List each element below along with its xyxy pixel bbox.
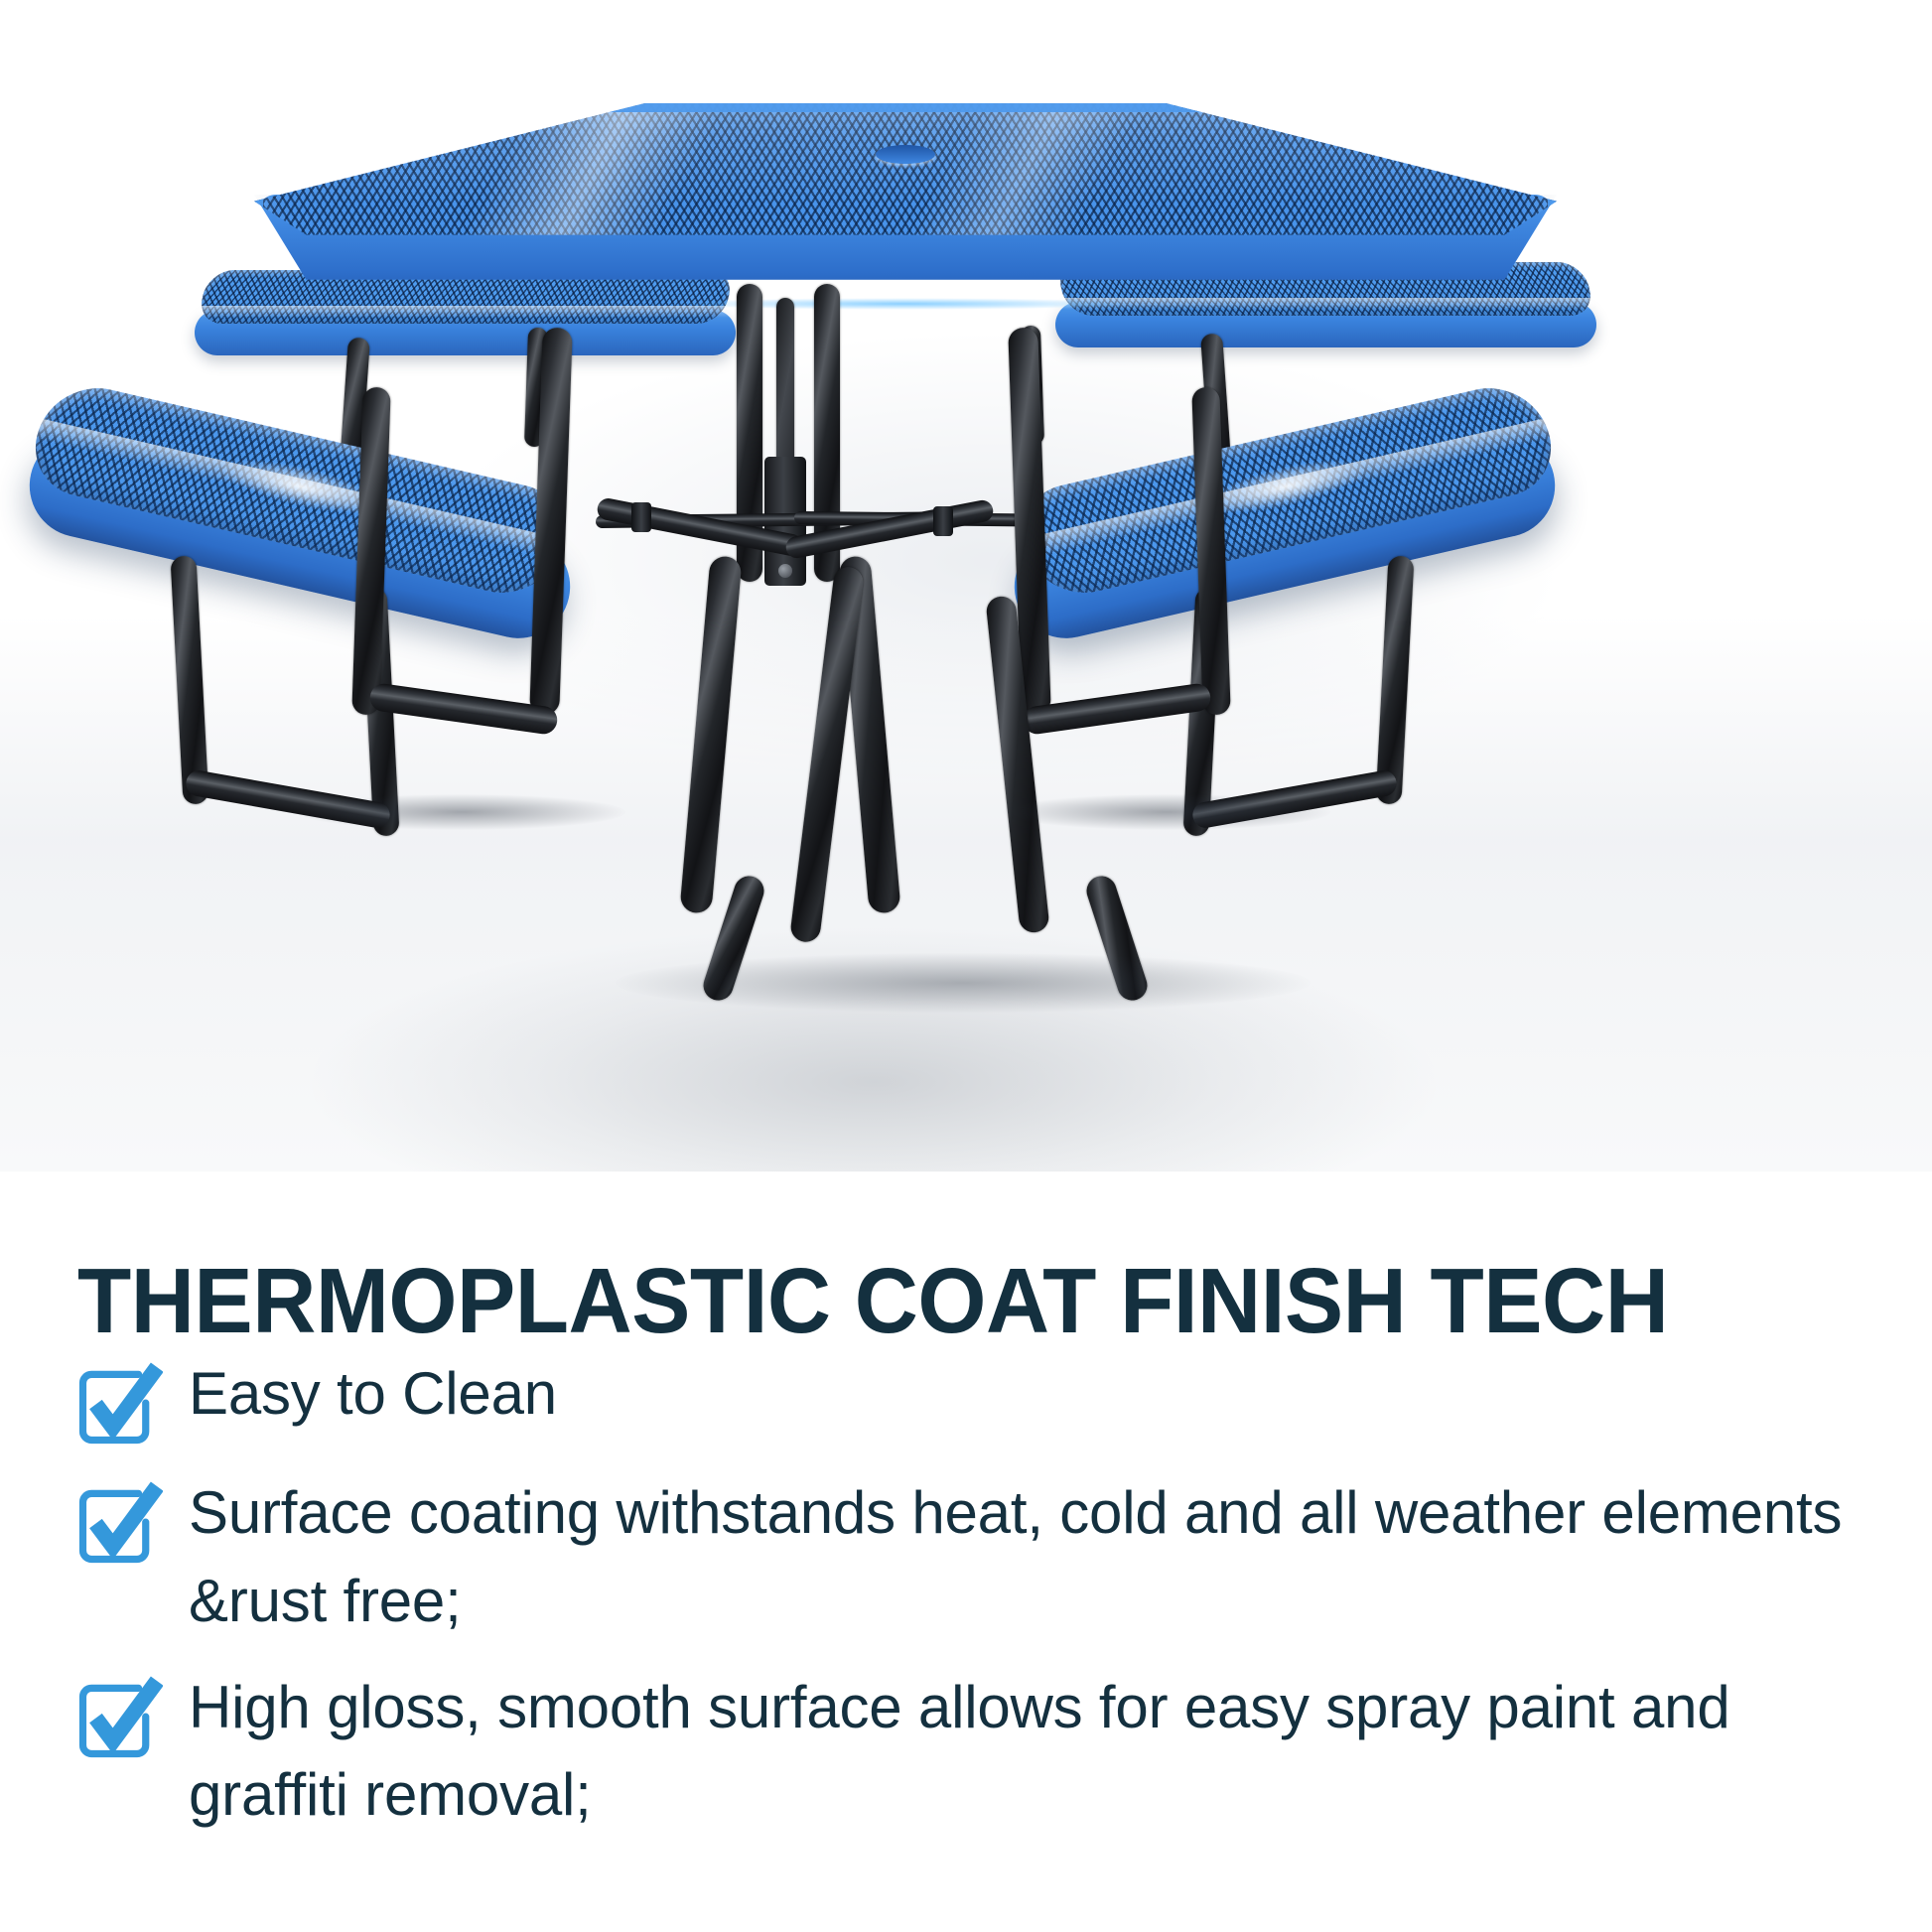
rail-clamp-right xyxy=(933,506,953,536)
rail-clamp-left xyxy=(631,502,651,532)
foot-shadow-left xyxy=(298,794,625,830)
floor-shadow xyxy=(0,616,1932,1172)
feature-text: Surface coating withstands heat, cold an… xyxy=(179,1469,1878,1646)
page-title: THERMOPLASTIC COAT FINISH TECH xyxy=(77,1255,1784,1347)
foot-shadow-right xyxy=(1003,794,1330,830)
umbrella-hole xyxy=(876,145,935,164)
product-photo xyxy=(0,0,1932,1172)
center-bracket-bolt xyxy=(778,564,792,578)
table-leg-front-left xyxy=(679,555,742,913)
bench-seat-front-left xyxy=(18,397,584,625)
table-top xyxy=(254,103,1557,312)
feature-text: High gloss, smooth surface allows for ea… xyxy=(179,1664,1878,1841)
checkbox-checked-icon xyxy=(71,1469,179,1571)
checkbox-checked-icon xyxy=(71,1350,179,1451)
bench-seat-front-right xyxy=(1003,397,1569,625)
table-leg-front-left-b xyxy=(789,566,865,944)
list-item: Easy to Clean xyxy=(71,1350,1878,1451)
feature-list: Easy to Clean Surface coating withstands… xyxy=(71,1350,1878,1858)
list-item: Surface coating withstands heat, cold an… xyxy=(71,1469,1878,1646)
foot-shadow-center xyxy=(616,953,1311,1013)
feature-text: Easy to Clean xyxy=(179,1350,1878,1439)
list-item: High gloss, smooth surface allows for ea… xyxy=(71,1664,1878,1841)
checkbox-checked-icon xyxy=(71,1664,179,1765)
